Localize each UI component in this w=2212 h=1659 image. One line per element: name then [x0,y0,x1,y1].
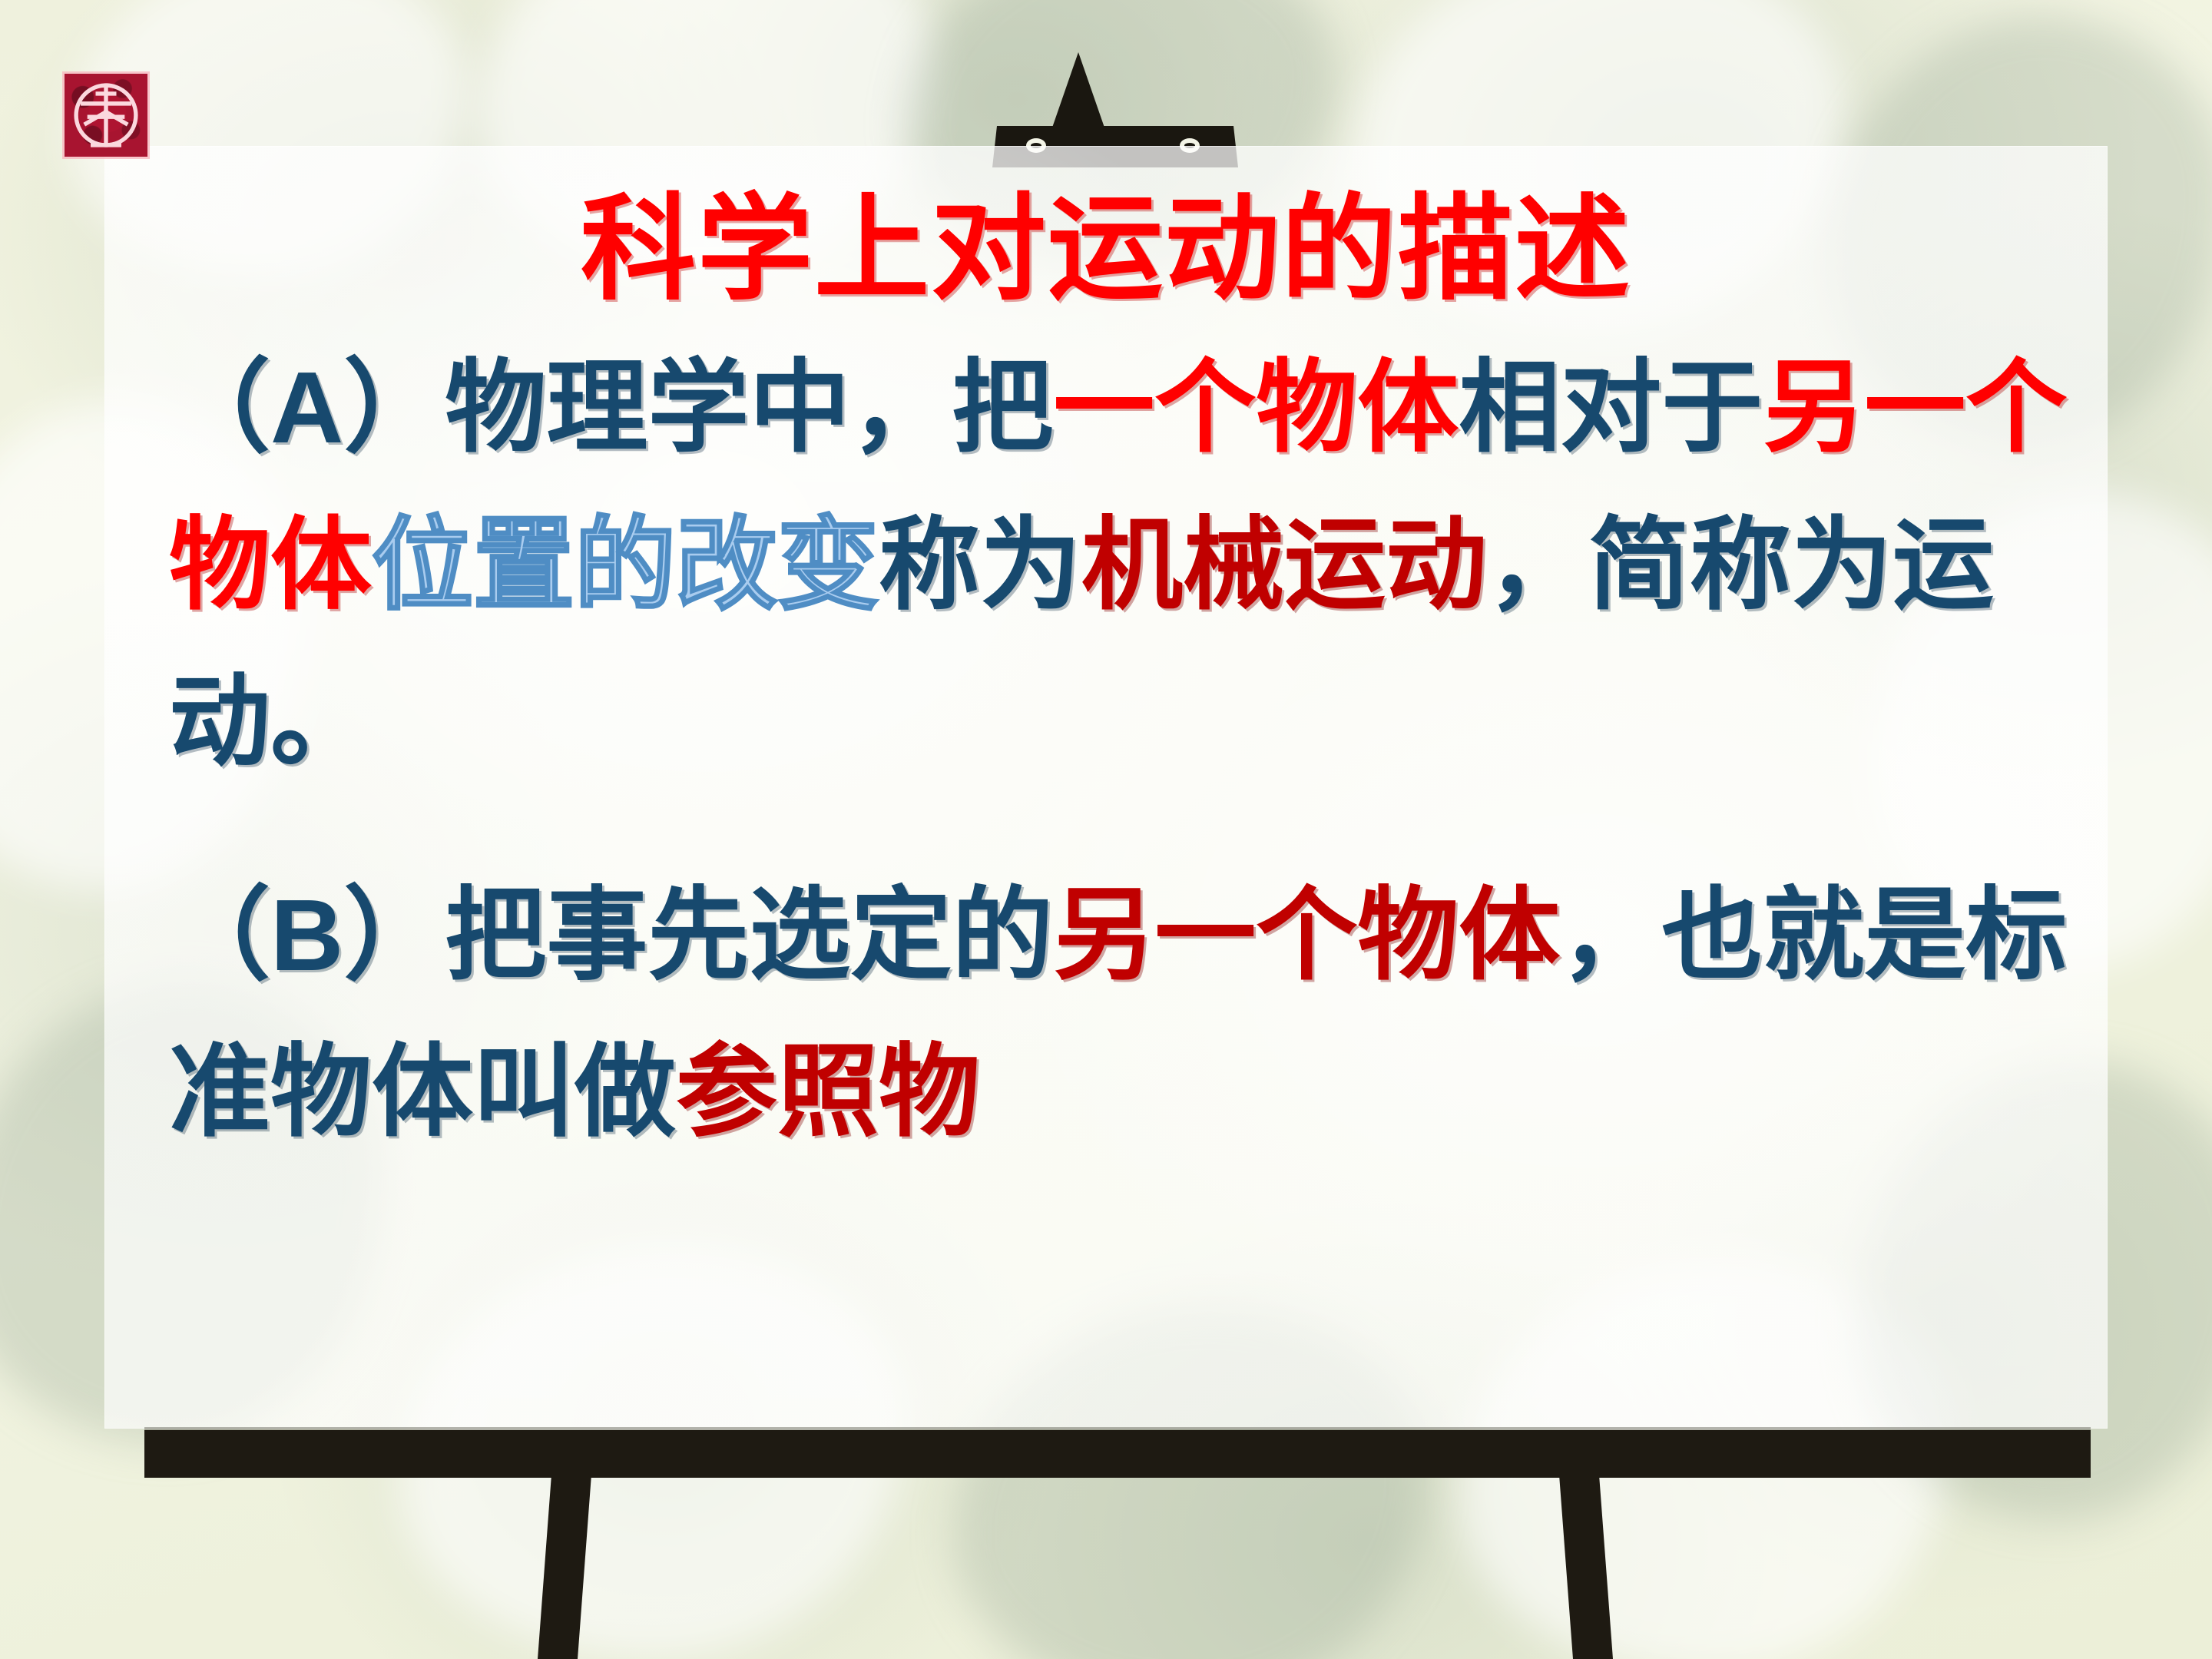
paragraph-a-line1-navy-1: 物理学中，把 [445,352,1053,465]
paragraph-a-line1-red: 一个物体 [1053,352,1459,465]
paragraph-a-marker-close: ） [343,352,445,465]
seal-glyph-icon [65,74,147,157]
paragraph-b-line2-darkred: 参照物 [676,1036,980,1149]
seal-stamp-icon [65,74,147,157]
paragraph-a-marker-open: （ [169,352,270,465]
page-title: 科学上对运动的描述 [115,192,2097,310]
paragraph-a-line2-navy-1: 对于 [1560,352,1763,465]
paragraph-b-marker-letter: B [270,879,343,992]
slide-content: 科学上对运动的描述 （A）物理学中，把一个物体相对于另一个物体位置的改变称为机械… [115,164,2097,1409]
paragraph-b: （B）把事先选定的另一个物体，也就是标准物体叫做参照物 [115,857,2097,1172]
easel-bottom-tray [144,1430,2091,1478]
paragraph-b-marker-open: （ [169,879,270,992]
paragraph-a-line1-navy-2: 相 [1459,352,1560,465]
paragraph-a-line2-lightblue: 位置的改变 [372,509,879,622]
paragraph-a-line3-darkred: 机械运动 [1081,509,1487,622]
easel-leg-left [538,1475,591,1659]
easel-clip-knob [1052,52,1104,127]
paragraph-a-line2-navy-2: 称为 [879,509,1081,622]
easel-leg-right [1559,1475,1613,1659]
paragraph-b-line1-darkred: 另一个物体 [1053,879,1560,992]
paragraph-b-line1-navy-1: 把事先选定的 [445,879,1053,992]
paragraph-b-line1-navy-2: ， [1560,879,1661,992]
paragraph-b-marker-close: ） [343,879,445,992]
paragraph-a: （A）物理学中，把一个物体相对于另一个物体位置的改变称为机械运动，简称为运动。 [115,329,2097,802]
slide-canvas: 科学上对运动的描述 （A）物理学中，把一个物体相对于另一个物体位置的改变称为机械… [0,0,2212,1659]
paragraph-a-marker-letter: A [270,351,343,464]
